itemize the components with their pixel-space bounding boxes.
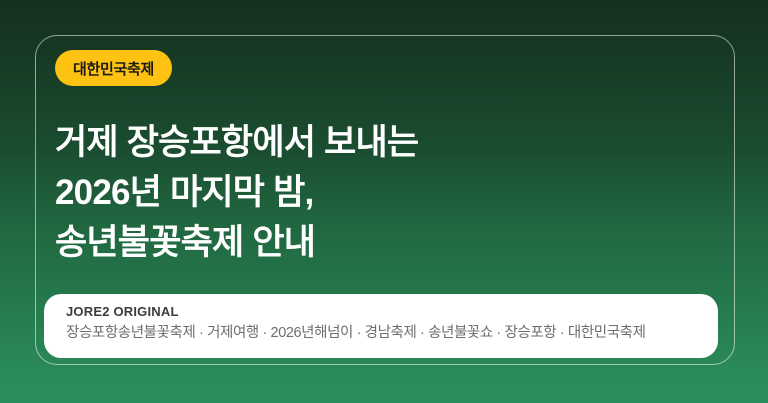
category-badge[interactable]: 대한민국축제 bbox=[55, 50, 172, 86]
headline-line-2: 2026년 마지막 밤, bbox=[55, 168, 695, 218]
promo-card-root: 대한민국축제 거제 장승포항에서 보내는 2026년 마지막 밤, 송년불꽃축제… bbox=[0, 0, 768, 403]
headline-line-1: 거제 장승포항에서 보내는 bbox=[55, 118, 695, 168]
brand-label: JORE2 ORIGINAL bbox=[66, 302, 768, 321]
info-card-content: JORE2 ORIGINAL 장승포항송년불꽃축제 · 거제여행 · 2026년… bbox=[66, 302, 768, 345]
category-badge-label: 대한민국축제 bbox=[73, 58, 154, 79]
headline-line-3: 송년불꽃축제 안내 bbox=[55, 218, 695, 268]
headline-block: 거제 장승포항에서 보내는 2026년 마지막 밤, 송년불꽃축제 안내 bbox=[55, 118, 695, 268]
tag-list[interactable]: 장승포항송년불꽃축제 · 거제여행 · 2026년해넘이 · 경남축제 · 송년… bbox=[66, 321, 768, 345]
